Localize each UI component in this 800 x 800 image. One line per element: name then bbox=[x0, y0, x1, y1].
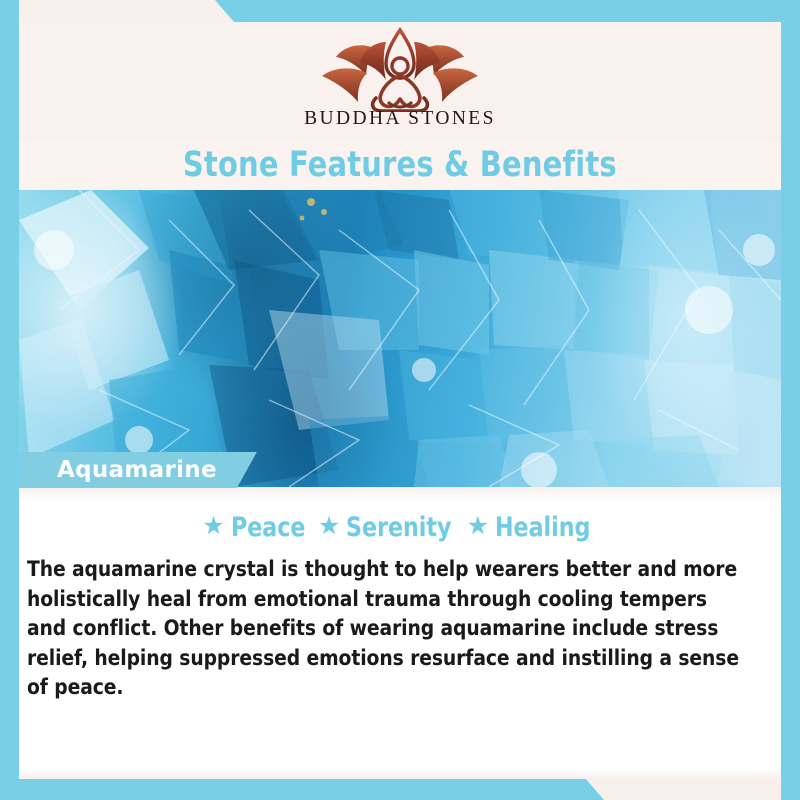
title-banner: Stone Features & Benefits bbox=[19, 140, 781, 190]
crystal-photo bbox=[19, 190, 781, 487]
keyword-item: ★ Serenity bbox=[318, 512, 460, 543]
star-icon: ★ bbox=[202, 514, 224, 539]
frame-right-bar bbox=[781, 0, 800, 800]
keyword-label: Peace bbox=[231, 512, 305, 543]
keyword-list: ★ Peace ★ Serenity ★ Healing bbox=[19, 512, 781, 543]
star-icon: ★ bbox=[467, 514, 489, 539]
keyword-item: ★ Peace bbox=[202, 512, 310, 543]
frame-bottom-band bbox=[0, 778, 800, 800]
stone-description: The aquamarine crystal is thought to hel… bbox=[27, 555, 749, 703]
stone-name-badge: Aquamarine bbox=[19, 452, 257, 488]
content-panel: ★ Peace ★ Serenity ★ Healing The aquamar… bbox=[19, 487, 781, 778]
content-bottom-fade bbox=[19, 770, 781, 779]
lotus-meditation-icon bbox=[314, 26, 486, 112]
frame-left-bar bbox=[0, 0, 19, 800]
star-icon: ★ bbox=[318, 514, 340, 539]
brand-header: BUDDHA STONES bbox=[19, 22, 781, 140]
infographic-card: BUDDHA STONES Stone Features & Benefits bbox=[0, 0, 800, 800]
keyword-item: ★ Healing bbox=[467, 512, 598, 543]
content-top-fade bbox=[19, 487, 781, 501]
frame-top-band bbox=[0, 0, 800, 22]
brand-name: BUDDHA STONES bbox=[304, 108, 496, 130]
crystal-facets bbox=[19, 190, 781, 487]
stone-name-label: Aquamarine bbox=[57, 457, 217, 483]
keyword-label: Healing bbox=[495, 512, 590, 543]
keyword-label: Serenity bbox=[346, 512, 451, 543]
page-title: Stone Features & Benefits bbox=[183, 145, 617, 185]
